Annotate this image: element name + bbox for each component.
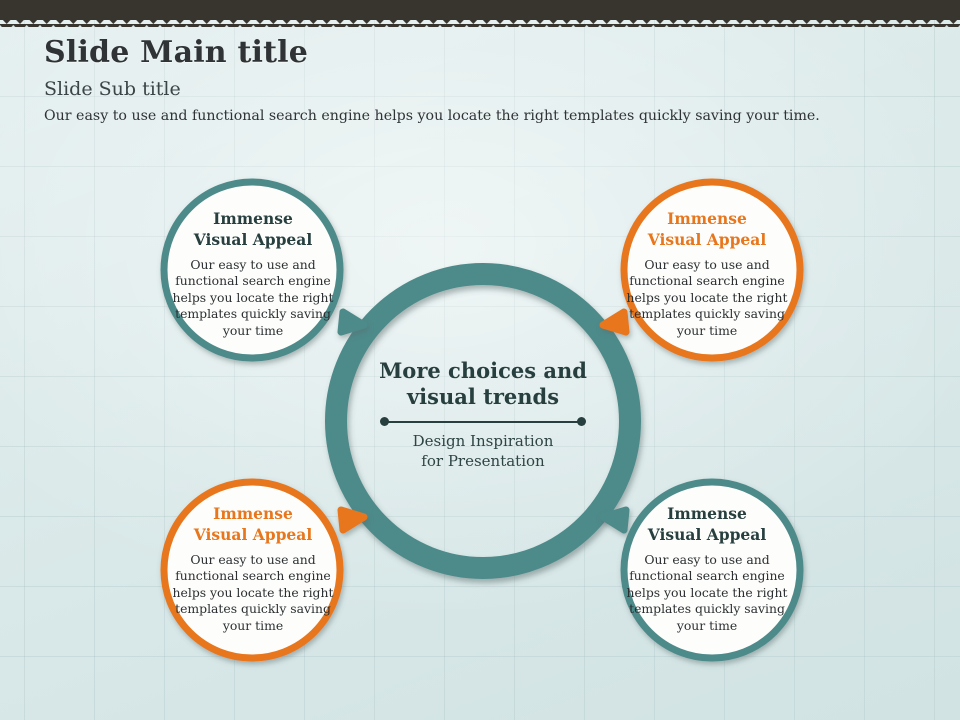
center-subtext: Design Inspiration for Presentation — [357, 431, 609, 471]
bubble-top-left-body: Our easy to use and functional search en… — [170, 257, 336, 339]
bubble-top-right-text: Immense Visual Appeal Our easy to use an… — [624, 208, 790, 339]
center-sub-line2: for Presentation — [421, 452, 544, 470]
slide-canvas: Slide Main title Slide Sub title Our eas… — [0, 0, 960, 720]
center-sub-line1: Design Inspiration — [413, 432, 554, 450]
bubble-top-left-title: Immense Visual Appeal — [170, 208, 336, 250]
cycle-diagram: More choices and visual trends Design In… — [0, 0, 960, 720]
bubble-bottom-left-body: Our easy to use and functional search en… — [170, 552, 336, 634]
center-divider — [380, 416, 586, 428]
bubble-top-left-text: Immense Visual Appeal Our easy to use an… — [170, 208, 336, 339]
center-heading-line1: More choices and — [379, 358, 587, 383]
bubble-bottom-right-title: Immense Visual Appeal — [624, 503, 790, 545]
bubble-title-line2: Visual Appeal — [648, 525, 766, 544]
bubble-title-line2: Visual Appeal — [194, 525, 312, 544]
bubble-title-line1: Immense — [213, 209, 293, 228]
center-ring-text: More choices and visual trends Design In… — [357, 358, 609, 471]
center-heading: More choices and visual trends — [357, 358, 609, 410]
bubble-bottom-right-body: Our easy to use and functional search en… — [624, 552, 790, 634]
bubble-title-line1: Immense — [213, 504, 293, 523]
bubble-bottom-left-title: Immense Visual Appeal — [170, 503, 336, 545]
bubble-title-line2: Visual Appeal — [648, 230, 766, 249]
bubble-top-right-body: Our easy to use and functional search en… — [624, 257, 790, 339]
bubble-title-line1: Immense — [667, 504, 747, 523]
bubble-title-line2: Visual Appeal — [194, 230, 312, 249]
divider-dot-right — [577, 417, 586, 426]
bubble-bottom-right-text: Immense Visual Appeal Our easy to use an… — [624, 503, 790, 634]
bubble-title-line1: Immense — [667, 209, 747, 228]
bubble-top-right-title: Immense Visual Appeal — [624, 208, 790, 250]
bubble-bottom-left-text: Immense Visual Appeal Our easy to use an… — [170, 503, 336, 634]
center-heading-line2: visual trends — [407, 384, 559, 409]
divider-rule — [386, 421, 580, 423]
